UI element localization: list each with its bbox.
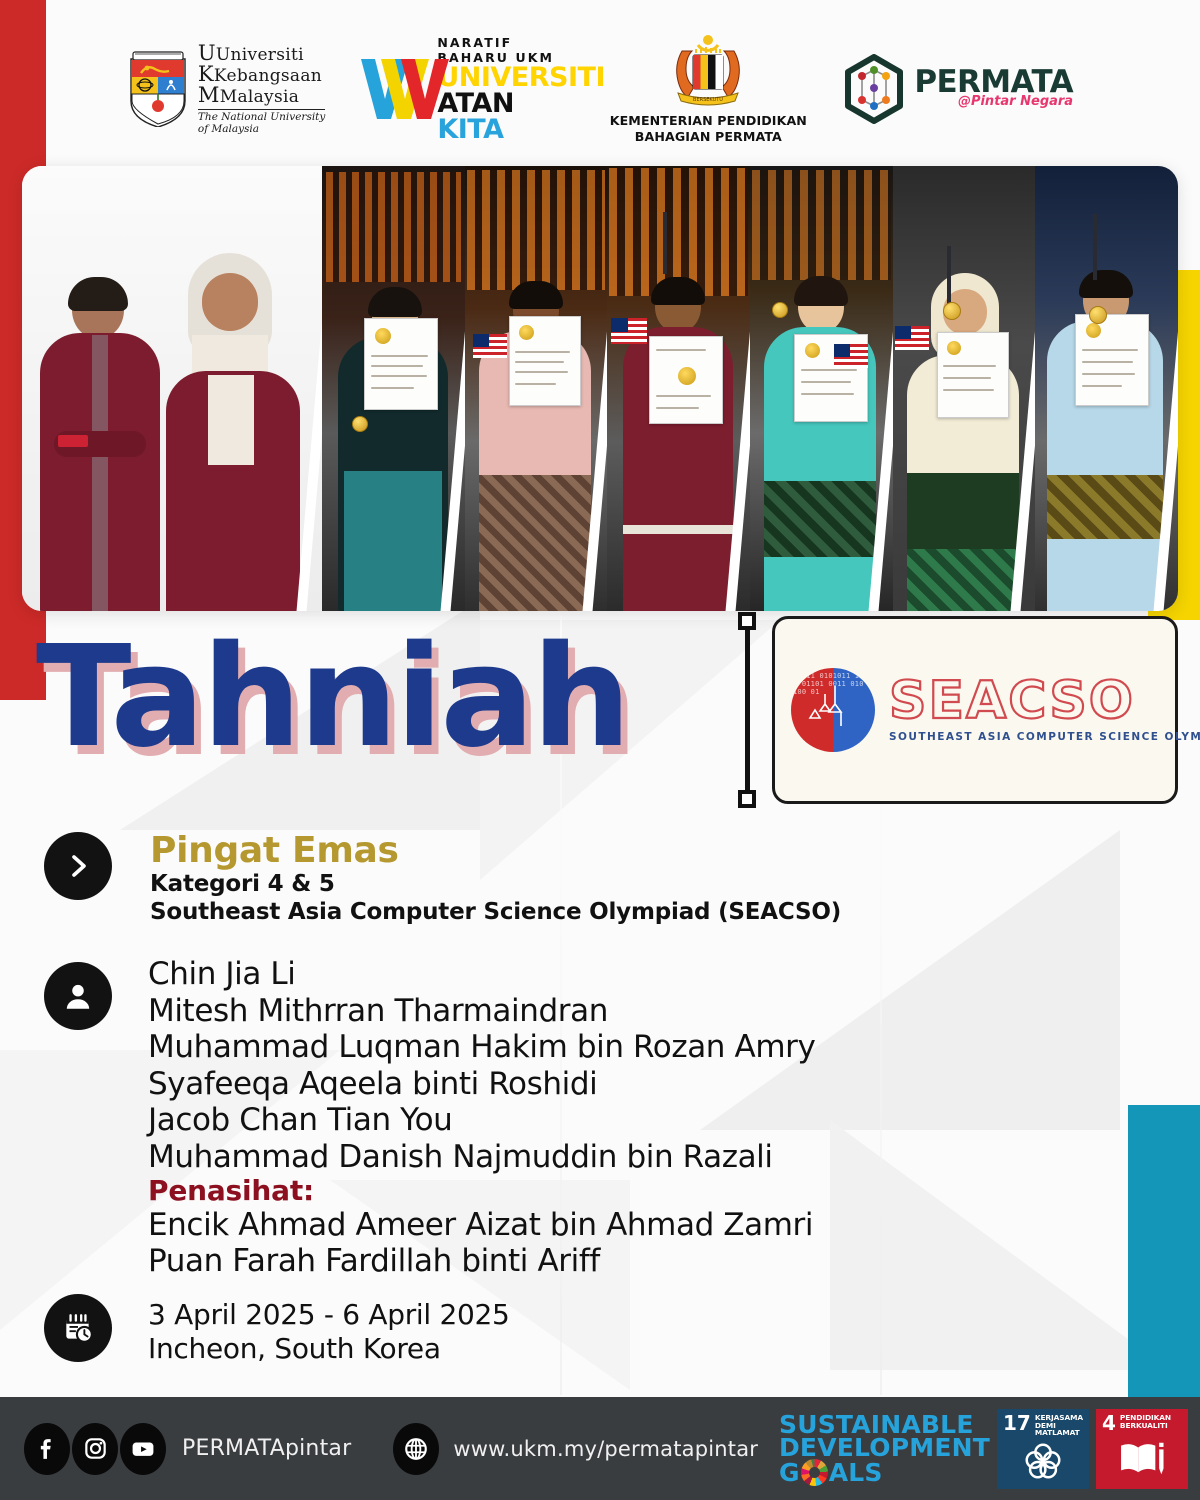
photo-winner-1 [322, 166, 465, 611]
ukm-tagline-1: The National University [198, 112, 325, 124]
naratif-baharu-logo: NARATIF BAHARU UKM UNIVERSITI ATAN KITA [359, 53, 574, 125]
student-name: Muhammad Luqman Hakim bin Rozan Amry [148, 1029, 1148, 1066]
competition-label: Southeast Asia Computer Science Olympiad… [150, 898, 1110, 926]
facebook-icon[interactable] [24, 1423, 70, 1475]
permata-logo: PERMATA @Pintar Negara [842, 54, 1073, 124]
website-link[interactable]: www.ukm.my/permatapintar [393, 1423, 758, 1475]
sdg-4-number: 4 [1102, 1414, 1116, 1432]
sdg-17-label-2: DEMI MATLAMAT [1035, 1422, 1083, 1437]
ministry-line1: KEMENTERIAN PENDIDIKAN [610, 113, 807, 129]
ukm-logo: UUniversiti KKebangsaan MMalaysia The Na… [127, 43, 325, 136]
participants-list: Chin Jia Li Mitesh Mithrran Tharmaindran… [148, 956, 1148, 1280]
photo-winner-2 [465, 166, 608, 611]
photo-winner-3 [607, 166, 750, 611]
photo-winner-4 [750, 166, 893, 611]
seacso-subtitle: SOUTHEAST ASIA COMPUTER SCIENCE OLYMPIAD [889, 731, 1200, 743]
seacso-acronym: SEACSO [889, 677, 1200, 726]
advisor-name: Encik Ahmad Ameer Aizat bin Ahmad Zamri [148, 1207, 1148, 1244]
permata-hexagon-icon [842, 54, 906, 124]
ukm-crest-icon [127, 51, 189, 127]
naratif-top-line: NARATIF BAHARU UKM [437, 35, 574, 65]
header-logo-bar: UUniversiti KKebangsaan MMalaysia The Na… [0, 24, 1200, 154]
photo-winner-5 [893, 166, 1036, 611]
ukm-line2: Kebangsaan [214, 66, 322, 86]
student-name: Chin Jia Li [148, 956, 1148, 993]
footer-bar: PERMATApintar www.ukm.my/permatapintar S… [0, 1397, 1200, 1500]
sdg-4-label-2: BERKUALITI [1120, 1422, 1171, 1430]
permata-wordmark: PERMATA [914, 69, 1073, 97]
sdg-goal-4: 4 PENDIDIKAN BERKUALITI [1096, 1409, 1188, 1489]
sdg-line-3a: G [779, 1461, 800, 1484]
decorative-dimension-line [738, 612, 756, 808]
sdg-17-number: 17 [1003, 1414, 1031, 1432]
title-text: Tahniah [36, 628, 736, 768]
event-location: Incheon, South Korea [148, 1332, 948, 1366]
ministry-line2: BAHAGIAN PERMATA [610, 129, 807, 145]
social-handle: PERMATApintar [182, 1436, 351, 1461]
globe-icon[interactable] [393, 1423, 439, 1475]
award-details: Pingat Emas Kategori 4 & 5 Southeast Asi… [150, 832, 1110, 926]
sdg-17-partnership-icon [1003, 1437, 1083, 1484]
ukm-line3: Malaysia [220, 87, 299, 107]
double-w-icon [359, 55, 451, 123]
student-name: Mitesh Mithrran Tharmaindran [148, 993, 1148, 1030]
seacso-brain-icon: 01011 0101011 10110 01101 0011 010 1100 … [791, 668, 875, 752]
event-dates: 3 April 2025 - 6 April 2025 [148, 1298, 948, 1332]
advisor-label: Penasihat: [148, 1175, 1148, 1206]
congratulations-title: Tahniah [36, 628, 736, 798]
seacso-logo-card: 01011 0101011 10110 01101 0011 010 1100 … [772, 616, 1178, 804]
website-url: www.ukm.my/permatapintar [453, 1437, 758, 1461]
photo-winner-6 [1035, 166, 1178, 611]
sdg-line-2: DEVELOPMENT [779, 1436, 990, 1459]
youtube-icon[interactable] [120, 1423, 166, 1475]
student-name: Jacob Chan Tian You [148, 1102, 1148, 1139]
category-label: Kategori 4 & 5 [150, 870, 1110, 898]
ukm-tagline-2: of Malaysia [198, 124, 325, 136]
sdg-logos: SUSTAINABLE DEVELOPMENT G ALS 17 KERJASA… [779, 1409, 1188, 1489]
student-name: Syafeeqa Aqeela binti Roshidi [148, 1066, 1148, 1103]
student-name: Muhammad Danish Najmuddin bin Razali [148, 1139, 1148, 1176]
svg-text:BERSEKUTU: BERSEKUTU [693, 97, 723, 103]
sdg-line-3b: ALS [829, 1461, 883, 1484]
advisor-name: Puan Farah Fardillah binti Ariff [148, 1243, 1148, 1280]
winners-photo-strip [22, 166, 1178, 611]
social-media-links: PERMATApintar [24, 1423, 351, 1475]
sdg-goal-17: 17 KERJASAMA DEMI MATLAMAT [997, 1409, 1089, 1489]
ukm-line1: Universiti [216, 45, 304, 65]
malaysia-coat-of-arms-icon: BERSEKUTU [660, 33, 756, 111]
sdg-wordmark: SUSTAINABLE DEVELOPMENT G ALS [779, 1409, 990, 1489]
instagram-icon[interactable] [72, 1423, 118, 1475]
ministry-logo: BERSEKUTU KEMENTERIAN PENDIDIKAN BAHAGIA… [608, 33, 808, 145]
person-icon [44, 962, 112, 1030]
photo-advisors [22, 166, 322, 611]
sdg-color-wheel-icon [801, 1459, 828, 1486]
event-details: 3 April 2025 - 6 April 2025 Incheon, Sou… [148, 1298, 948, 1366]
chevron-right-icon [44, 832, 112, 900]
calendar-clock-icon [44, 1294, 112, 1362]
sdg-4-book-pencil-icon [1102, 1432, 1182, 1484]
medal-label: Pingat Emas [150, 832, 1110, 870]
